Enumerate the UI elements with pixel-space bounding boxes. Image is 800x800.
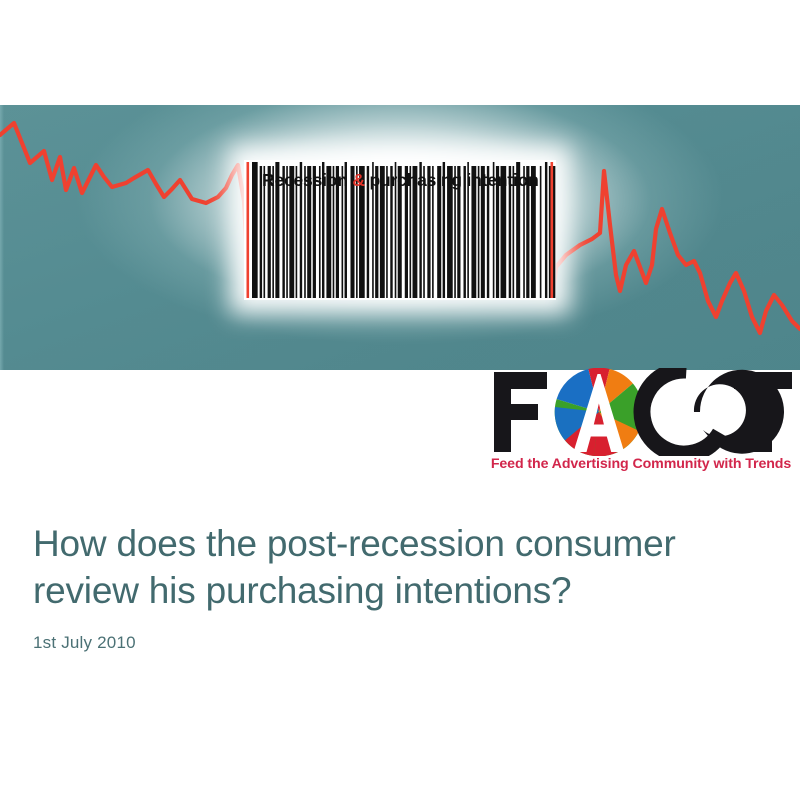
page-title-line-2: review his purchasing intentions? — [33, 567, 753, 614]
fact-tagline: Feed the Advertising Community with Tren… — [488, 456, 794, 472]
page-title-line-1: How does the post-recession consumer — [33, 520, 753, 567]
fact-logo-mark — [488, 368, 794, 456]
page-title: How does the post-recession consumer rev… — [33, 520, 753, 614]
barcode-caption-before: Recession — [262, 170, 352, 190]
fact-logo: Feed the Advertising Community with Tren… — [488, 368, 794, 480]
title-block: How does the post-recession consumer rev… — [33, 520, 753, 654]
slide-root: Recession & purchasing intention — [0, 0, 800, 800]
barcode-graphic: Recession & purchasing intention — [244, 160, 556, 300]
logo-letter-f — [494, 372, 547, 452]
slide-date: 1st July 2010 — [33, 632, 753, 654]
barcode-caption-ampersand: & — [352, 170, 364, 190]
barcode-caption-after: purchasing intention — [365, 170, 539, 190]
barcode-caption: Recession & purchasing intention — [262, 168, 544, 192]
logo-letter-a-wheel — [555, 368, 644, 456]
